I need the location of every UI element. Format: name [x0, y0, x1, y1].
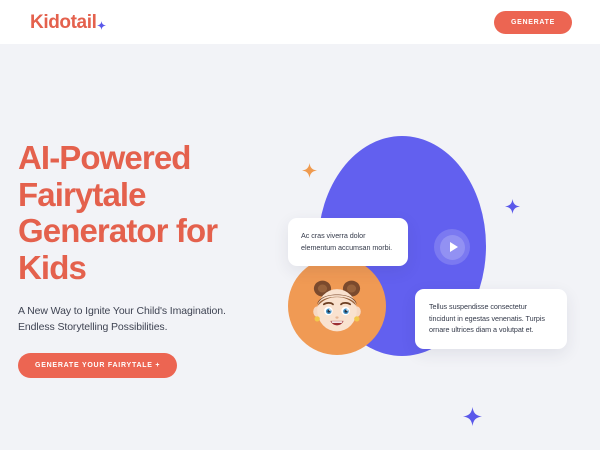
play-button[interactable]: [434, 229, 470, 265]
logo[interactable]: Kidotail: [30, 13, 106, 32]
logo-text: Kidotail: [30, 13, 96, 32]
feature-card-text: Ac cras viverra dolor elementum accumsan…: [301, 230, 395, 253]
hero-text-block: AI-Powered Fairytale Generator for Kids …: [18, 140, 278, 378]
avatar: [288, 257, 386, 355]
sparkle-icon: [97, 21, 106, 30]
hero-subhead: A New Way to Ignite Your Child's Imagina…: [18, 303, 258, 336]
play-icon: [450, 242, 458, 252]
feature-card: Ac cras viverra dolor elementum accumsan…: [288, 218, 408, 266]
sparkle-purple-right-icon: [505, 199, 520, 214]
landing-page: Kidotail GENERATE: [0, 0, 600, 450]
feature-card: Tellus suspendisse consectetur tincidunt…: [415, 289, 567, 349]
play-button-inner: [440, 235, 465, 260]
girl-face-avatar-icon: [304, 274, 370, 340]
page-title: AI-Powered Fairytale Generator for Kids: [18, 140, 258, 287]
sparkle-orange-top-icon: [302, 163, 317, 178]
site-header: Kidotail GENERATE: [0, 0, 600, 44]
sparkle-purple-bottom-icon: [463, 407, 482, 426]
header-generate-button[interactable]: GENERATE: [494, 11, 572, 34]
feature-card-text: Tellus suspendisse consectetur tincidunt…: [429, 301, 554, 336]
cta-generate-fairytale-button[interactable]: GENERATE YOUR FAIRYTALE +: [18, 353, 177, 378]
